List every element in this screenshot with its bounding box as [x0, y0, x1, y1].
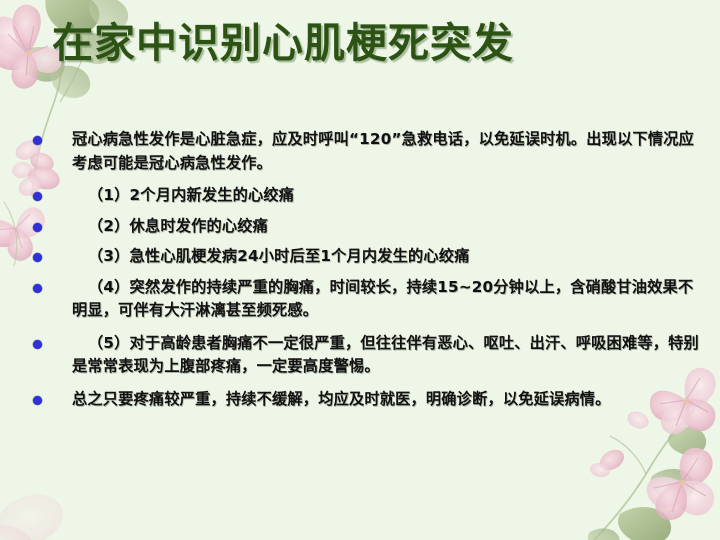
- list-item: 总之只要疼痛较严重，持续不缓解，均应及时就医，明确诊断，以免延误病情。: [24, 388, 700, 412]
- list-item-text: 冠心病急性发作是心脏急症，应及时呼叫“120”急救电话，以免延误时机。出现以下情…: [72, 128, 700, 175]
- list-item-text: （1）2个月内新发生的心绞痛: [72, 184, 700, 208]
- list-item-text: （5）对于高龄患者胸痛不一定很严重，但往往伴有恶心、呕吐、出汗、呼吸困难等，特别…: [72, 332, 700, 379]
- list-item-text: （4）突然发作的持续严重的胸痛，时间较长，持续15~20分钟以上，含硝酸甘油效果…: [72, 276, 700, 323]
- bullet-dot-icon: [33, 396, 42, 405]
- presentation-slide: 在家中识别心肌梗死突发 冠心病急性发作是心脏急症，应及时呼叫“120”急救电话，…: [0, 0, 720, 540]
- floral-bottom-left-icon: [0, 470, 80, 540]
- bullet-dot-icon: [33, 136, 42, 145]
- list-item: 冠心病急性发作是心脏急症，应及时呼叫“120”急救电话，以免延误时机。出现以下情…: [24, 128, 700, 175]
- page-title: 在家中识别心肌梗死突发: [52, 14, 672, 72]
- list-item: （3）急性心肌梗发病24小时后至1个月内发生的心绞痛: [24, 245, 700, 269]
- list-item: （1）2个月内新发生的心绞痛: [24, 184, 700, 208]
- bullet-list: 冠心病急性发作是心脏急症，应及时呼叫“120”急救电话，以免延误时机。出现以下情…: [24, 128, 700, 420]
- list-item: （4）突然发作的持续严重的胸痛，时间较长，持续15~20分钟以上，含硝酸甘油效果…: [24, 276, 700, 323]
- title-block: 在家中识别心肌梗死突发: [52, 14, 672, 76]
- list-item-text: （3）急性心肌梗发病24小时后至1个月内发生的心绞痛: [72, 245, 700, 269]
- list-item: （2）休息时发作的心绞痛: [24, 215, 700, 239]
- list-item-text: 总之只要疼痛较严重，持续不缓解，均应及时就医，明确诊断，以免延误病情。: [72, 388, 700, 412]
- list-item-text: （2）休息时发作的心绞痛: [72, 215, 700, 239]
- bullet-dot-icon: [33, 253, 42, 262]
- bullet-dot-icon: [33, 192, 42, 201]
- bullet-dot-icon: [33, 340, 42, 349]
- bullet-dot-icon: [33, 223, 42, 232]
- list-item: （5）对于高龄患者胸痛不一定很严重，但往往伴有恶心、呕吐、出汗、呼吸困难等，特别…: [24, 332, 700, 379]
- bullet-dot-icon: [33, 284, 42, 293]
